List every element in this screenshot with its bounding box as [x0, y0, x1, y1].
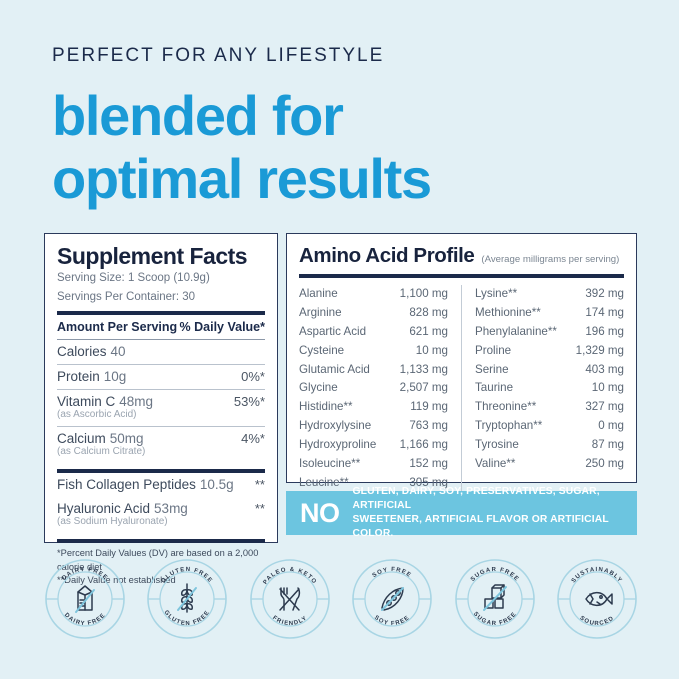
amino-acid-name: Lysine**: [475, 285, 517, 304]
svg-text:DAIRY FREE: DAIRY FREE: [63, 612, 107, 627]
nutrient-line: Calcium50mg4%*: [57, 431, 265, 446]
amino-acid-value: 1,166 mg: [400, 436, 448, 455]
amino-acid-row: Arginine828 mg: [299, 304, 448, 323]
amino-acid-value: 152 mg: [409, 455, 448, 474]
amino-acid-value: 174 mg: [585, 304, 624, 323]
amino-divider-thick: [299, 274, 624, 278]
nutrient-daily-value: **: [255, 501, 265, 516]
nutrient-row: Vitamin C48mg53%*(as Ascorbic Acid): [57, 390, 265, 426]
nutrient-name: Protein10g: [57, 369, 126, 384]
nutrient-amount: 53mg: [154, 501, 188, 516]
amino-acid-name: Isoleucine**: [299, 455, 360, 474]
amino-acid-value: 1,133 mg: [400, 361, 448, 380]
amino-acid-row: Lysine**392 mg: [475, 285, 624, 304]
amino-acid-name: Alanine: [299, 285, 338, 304]
badge-sugar-cubes: SUGAR FREESUGAR FREE: [454, 558, 536, 640]
amino-acid-name: Arginine: [299, 304, 342, 323]
amino-acid-name: Hydroxyproline: [299, 436, 376, 455]
amino-acid-name: Histidine**: [299, 398, 353, 417]
amino-acid-profile-panel: Amino Acid Profile (Average milligrams p…: [286, 233, 637, 483]
nutrient-row: Calcium50mg4%*(as Calcium Citrate): [57, 427, 265, 463]
amino-acid-row: Tryptophan**0 mg: [475, 417, 624, 436]
no-banner-line-2: SWEETENER, ARTIFICIAL FLAVOR OR ARTIFICI…: [353, 513, 624, 541]
amino-acid-row: Threonine**327 mg: [475, 398, 624, 417]
amino-acid-name: Valine**: [475, 455, 515, 474]
amino-acid-name: Cysteine: [299, 342, 344, 361]
amino-acid-value: 621 mg: [409, 323, 448, 342]
amino-acid-row: Taurine10 mg: [475, 379, 624, 398]
no-banner-word: NO: [300, 500, 340, 527]
amino-acid-value: 327 mg: [585, 398, 624, 417]
amino-profile-title: Amino Acid Profile: [299, 244, 474, 268]
nutrient-source-note: (as Sodium Hyaluronate): [57, 516, 265, 528]
nutrient-list: Calories40Protein10g0%*Vitamin C48mg53%*…: [57, 340, 265, 463]
amino-acid-value: 392 mg: [585, 285, 624, 304]
amino-acid-value: 403 mg: [585, 361, 624, 380]
amino-acid-row: Aspartic Acid621 mg: [299, 323, 448, 342]
nutrient-row: Hyaluronic Acid53mg**(as Sodium Hyaluron…: [57, 497, 265, 533]
nutrient-row: Fish Collagen Peptides10.5g**: [57, 473, 265, 497]
amino-acid-name: Serine: [475, 361, 509, 380]
svg-text:SUSTAINABLY: SUSTAINABLY: [571, 567, 623, 584]
nutrient-daily-value: 4%*: [241, 431, 265, 446]
amino-acid-name: Phenylalanine**: [475, 323, 557, 342]
nutrient-line: Hyaluronic Acid53mg**: [57, 501, 265, 516]
amino-acid-row: Methionine**174 mg: [475, 304, 624, 323]
svg-text:SUGAR FREE: SUGAR FREE: [470, 567, 520, 583]
col-daily-value: % Daily Value*: [180, 320, 265, 334]
nutrient-source-note: (as Calcium Citrate): [57, 446, 265, 458]
eyebrow-text: PERFECT FOR ANY LIFESTYLE: [52, 46, 632, 67]
nutrient-daily-value: 0%*: [241, 369, 265, 384]
nutrient-amount: 10.5g: [200, 477, 234, 492]
amino-acid-value: 1,100 mg: [400, 285, 448, 304]
nutrient-name: Hyaluronic Acid53mg: [57, 501, 188, 516]
nutrient-row: Calories40: [57, 340, 265, 364]
amino-acid-name: Tyrosine: [475, 436, 519, 455]
headline-line-2: optimal results: [52, 148, 632, 211]
amino-acid-name: Aspartic Acid: [299, 323, 366, 342]
svg-text:SOY FREE: SOY FREE: [372, 567, 413, 579]
amino-columns: Alanine1,100 mgArginine828 mgAspartic Ac…: [299, 285, 624, 493]
amino-right-column: Lysine**392 mgMethionine**174 mgPhenylal…: [461, 285, 624, 493]
badge-milk-carton: DAIRY FREEDAIRY FREE: [44, 558, 126, 640]
no-allergens-banner: NO GLUTEN, DAIRY, SOY, PRESERVATIVES, SU…: [286, 491, 637, 535]
svg-text:SUGAR FREE: SUGAR FREE: [471, 611, 517, 627]
amino-acid-name: Leucine**: [299, 474, 349, 493]
amino-left-column: Alanine1,100 mgArginine828 mgAspartic Ac…: [299, 285, 461, 493]
nutrient-line: Vitamin C48mg53%*: [57, 394, 265, 409]
amino-acid-row: Phenylalanine**196 mg: [475, 323, 624, 342]
amino-acid-value: 10 mg: [592, 379, 624, 398]
amino-acid-value: 119 mg: [410, 398, 448, 417]
nutrient-amount: 40: [111, 344, 126, 359]
amino-acid-name: Taurine: [475, 379, 513, 398]
amino-acid-name: Tryptophan**: [475, 417, 542, 436]
servings-per-container: Servings Per Container: 30: [57, 290, 265, 306]
headline-block: PERFECT FOR ANY LIFESTYLE blended for op…: [52, 46, 632, 210]
nutrient-daily-value: 53%*: [234, 394, 265, 409]
svg-text:PALEO & KETO: PALEO & KETO: [262, 567, 317, 586]
svg-text:FRIENDLY: FRIENDLY: [271, 615, 309, 627]
amino-acid-row: Hydroxyproline1,166 mg: [299, 436, 448, 455]
svg-text:SOURCED: SOURCED: [578, 615, 615, 627]
amino-acid-row: Isoleucine**152 mg: [299, 455, 448, 474]
amino-acid-row: Cysteine10 mg: [299, 342, 448, 361]
nutrient-line: Calories40: [57, 344, 265, 359]
amino-acid-value: 1,329 mg: [576, 342, 624, 361]
amino-header: Amino Acid Profile (Average milligrams p…: [299, 244, 624, 268]
headline-line-1: blended for: [52, 85, 632, 148]
amino-acid-value: 196 mg: [585, 323, 624, 342]
amino-acid-value: 250 mg: [585, 455, 624, 474]
amino-acid-value: 828 mg: [409, 304, 448, 323]
serving-size: Serving Size: 1 Scoop (10.9g): [57, 271, 265, 287]
amino-acid-row: Tyrosine87 mg: [475, 436, 624, 455]
badge-fish: SUSTAINABLYSOURCED: [556, 558, 638, 640]
amino-acid-value: 10 mg: [416, 342, 448, 361]
amino-acid-row: Glutamic Acid1,133 mg: [299, 361, 448, 380]
supplement-facts-title: Supplement Facts: [57, 244, 265, 268]
amino-acid-name: Glycine: [299, 379, 338, 398]
svg-text:GLUTEN FREE: GLUTEN FREE: [161, 567, 214, 585]
nutrient-line: Protein10g0%*: [57, 369, 265, 384]
amino-acid-row: Valine**250 mg: [475, 455, 624, 474]
supplement-facts-panel: Supplement Facts Serving Size: 1 Scoop (…: [44, 233, 278, 543]
amino-acid-name: Methionine**: [475, 304, 541, 323]
amino-acid-name: Hydroxylysine: [299, 417, 371, 436]
nutrient-name: Vitamin C48mg: [57, 394, 153, 409]
amino-profile-subtitle: (Average milligrams per serving): [481, 254, 619, 265]
no-banner-line-1: GLUTEN, DAIRY, SOY, PRESERVATIVES, SUGAR…: [353, 485, 624, 513]
amino-acid-value: 0 mg: [598, 417, 624, 436]
svg-text:SOY FREE: SOY FREE: [373, 615, 411, 627]
amino-acid-row: Glycine2,507 mg: [299, 379, 448, 398]
svg-text:DAIRY FREE: DAIRY FREE: [61, 567, 108, 582]
nutrient-amount: 10g: [104, 369, 127, 384]
amino-acid-value: 87 mg: [592, 436, 624, 455]
blend-list: Fish Collagen Peptides10.5g**Hyaluronic …: [57, 473, 265, 533]
amino-acid-name: Proline: [475, 342, 511, 361]
nutrient-name: Calcium50mg: [57, 431, 144, 446]
nutrient-line: Fish Collagen Peptides10.5g**: [57, 477, 265, 492]
table-header-row: Amount Per Serving % Daily Value*: [57, 315, 265, 339]
badge-pea-pod: SOY FREESOY FREE: [351, 558, 433, 640]
col-amount-per-serving: Amount Per Serving: [57, 320, 177, 334]
badge-wheat: GLUTEN FREEGLUTEN FREE: [146, 558, 228, 640]
amino-acid-row: Proline1,329 mg: [475, 342, 624, 361]
amino-acid-value: 763 mg: [409, 417, 448, 436]
nutrient-source-note: (as Ascorbic Acid): [57, 409, 265, 421]
amino-acid-row: Hydroxylysine763 mg: [299, 417, 448, 436]
amino-acid-row: Histidine**119 mg: [299, 398, 448, 417]
nutrient-row: Protein10g0%*: [57, 365, 265, 389]
certification-badge-row: DAIRY FREEDAIRY FREEGLUTEN FREEGLUTEN FR…: [44, 558, 638, 640]
nutrient-name: Fish Collagen Peptides10.5g: [57, 477, 234, 492]
nutrient-daily-value: **: [255, 477, 265, 492]
amino-acid-name: Glutamic Acid: [299, 361, 370, 380]
badge-fork-knife: PALEO & KETOFRIENDLY: [249, 558, 331, 640]
amino-acid-value: 2,507 mg: [400, 379, 448, 398]
no-banner-text: GLUTEN, DAIRY, SOY, PRESERVATIVES, SUGAR…: [353, 485, 624, 541]
amino-acid-row: Serine403 mg: [475, 361, 624, 380]
nutrient-name: Calories40: [57, 344, 126, 359]
nutrient-amount: 48mg: [119, 394, 153, 409]
amino-acid-name: Threonine**: [475, 398, 536, 417]
nutrient-amount: 50mg: [110, 431, 144, 446]
amino-acid-row: Alanine1,100 mg: [299, 285, 448, 304]
